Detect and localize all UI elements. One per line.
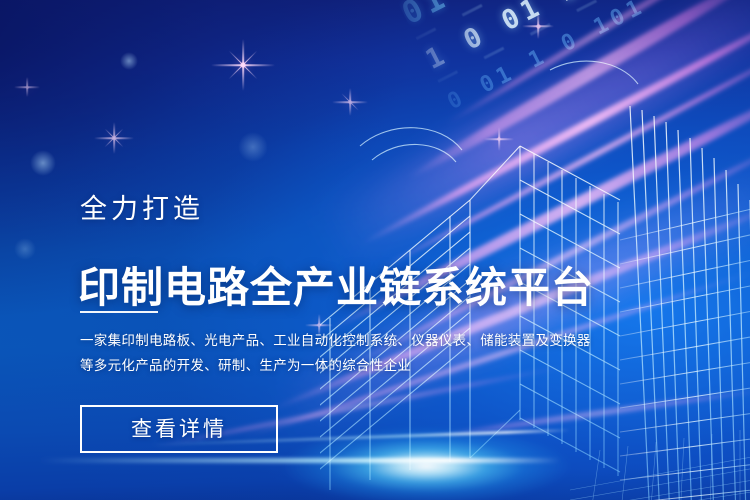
banner-content: 全力打造 印制电路全产业链系统平台 一家集印制电路板、光电产品、工业自动化控制系… — [0, 0, 750, 500]
description-text: 一家集印制电路板、光电产品、工业自动化控制系统、仪器仪表、储能装置及变换器 等多… — [80, 328, 580, 378]
hero-banner: 1 0 1 00 1 01 0 1 001 01 1 0 01 101 0 1 … — [0, 0, 750, 500]
kicker-text: 全力打造 — [80, 196, 204, 223]
divider-rule — [80, 311, 158, 313]
description-line-2: 等多元化产品的开发、研制、生产为一体的综合性企业 — [80, 353, 580, 378]
headline-text: 印制电路全产业链系统平台 — [78, 266, 594, 310]
description-line-1: 一家集印制电路板、光电产品、工业自动化控制系统、仪器仪表、储能装置及变换器 — [80, 328, 580, 353]
view-details-button[interactable]: 查看详情 — [80, 405, 278, 453]
